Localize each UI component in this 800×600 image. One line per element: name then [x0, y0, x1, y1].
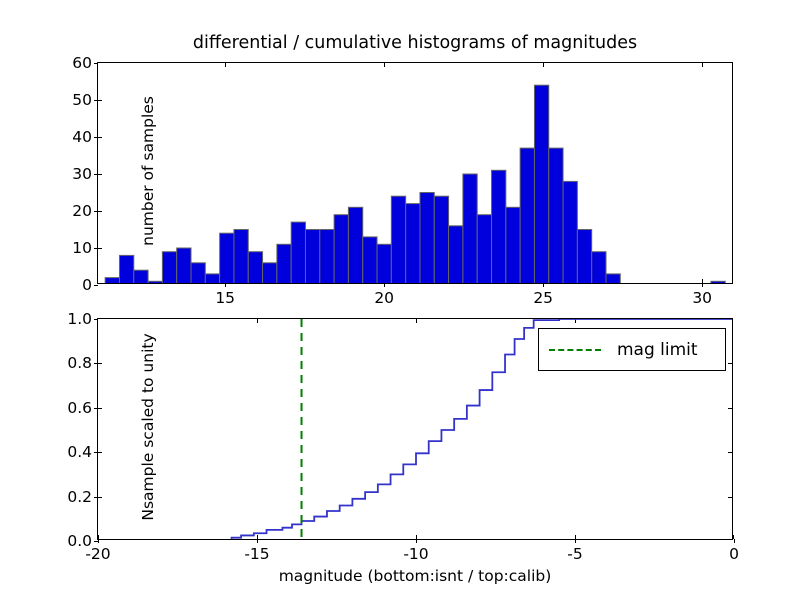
histogram-bar	[492, 170, 506, 283]
histogram-bar	[534, 85, 548, 283]
top-histogram-axes: number of samples 0 10 20 30 40 50 60 15…	[97, 62, 733, 284]
bottom-x-axis-label: magnitude (bottom:isnt / top:calib)	[97, 567, 733, 585]
histogram-bar	[477, 215, 491, 283]
top-y-ticklabel: 40	[72, 128, 92, 146]
bottom-x-tick	[416, 539, 417, 543]
bottom-x-ticklabel: -20	[85, 545, 110, 563]
bottom-x-ticklabel: -15	[244, 545, 269, 563]
histogram-bar	[291, 222, 305, 283]
histogram-bar	[162, 252, 176, 283]
top-x-tick	[702, 283, 703, 287]
top-y-ticklabel: 10	[72, 239, 92, 257]
top-y-ticklabel: 30	[72, 165, 92, 183]
histogram-bar	[277, 244, 291, 283]
histogram-bar	[119, 255, 133, 283]
bottom-y-ticklabel: 0.8	[67, 354, 92, 372]
top-y-ticklabel: 60	[72, 54, 92, 72]
histogram-bar	[248, 252, 262, 283]
histogram-bar	[377, 244, 391, 283]
histogram-bar	[520, 148, 534, 283]
bottom-y-ticklabel: 0.6	[67, 399, 92, 417]
histogram-bar	[711, 281, 725, 283]
histogram-bar	[592, 252, 606, 283]
histogram-bar	[606, 274, 620, 283]
histogram-bar	[320, 230, 334, 284]
histogram-bar	[348, 207, 362, 283]
top-y-ticklabel: 0	[82, 276, 92, 294]
bottom-x-tick-inner	[733, 535, 734, 539]
histogram-bar	[191, 263, 205, 283]
bottom-x-tick	[98, 539, 99, 543]
top-x-ticklabel: 15	[215, 289, 235, 307]
histogram-bar	[105, 278, 119, 283]
cumulative-axes: Nsample scaled to unity 0.0 0.2 0.4 0.6 …	[97, 318, 733, 540]
bottom-x-ticklabel: 0	[729, 545, 739, 563]
histogram-bar	[577, 230, 591, 284]
top-x-tick	[225, 283, 226, 287]
top-y-tick	[94, 285, 98, 286]
bottom-x-ticklabel: -10	[403, 545, 428, 563]
top-x-tick	[543, 283, 544, 287]
top-x-ticklabel: 25	[533, 289, 553, 307]
top-plot-area	[98, 63, 732, 283]
histogram-bar	[263, 263, 277, 283]
histogram-bar	[148, 281, 162, 283]
bottom-y-ticklabel: 1.0	[67, 310, 92, 328]
histogram-bar	[177, 248, 191, 283]
top-x-tick	[384, 283, 385, 287]
top-y-ticklabel: 50	[72, 91, 92, 109]
bottom-x-tick	[734, 539, 735, 543]
bottom-x-tick	[575, 539, 576, 543]
bottom-y-ticklabel: 0.4	[67, 443, 92, 461]
histogram-bar	[463, 174, 477, 283]
histogram-bar	[506, 207, 520, 283]
histogram-bar	[563, 181, 577, 283]
top-x-ticklabel: 20	[374, 289, 394, 307]
bottom-x-ticklabel: -5	[567, 545, 582, 563]
histogram-bar	[434, 196, 448, 283]
histogram-bar	[234, 230, 248, 284]
histogram-bar	[420, 193, 434, 284]
histogram-bar	[305, 230, 319, 284]
histogram-bar	[449, 226, 463, 283]
bottom-y-ticklabel: 0.2	[67, 488, 92, 506]
histogram-bar	[406, 204, 420, 283]
histogram-bar	[391, 196, 405, 283]
histogram-bar	[549, 148, 563, 283]
top-x-ticklabel: 30	[692, 289, 712, 307]
mag-limit-line-icon	[549, 349, 601, 351]
figure-canvas: differential / cumulative histograms of …	[0, 0, 800, 600]
legend-box[interactable]: mag limit	[538, 328, 726, 371]
histogram-bar	[334, 215, 348, 283]
page-title: differential / cumulative histograms of …	[97, 33, 733, 53]
histogram-bar	[134, 270, 148, 283]
histogram-bar	[220, 233, 234, 283]
histogram-bar	[205, 274, 219, 283]
top-y-ticklabel: 20	[72, 202, 92, 220]
histogram-bar	[363, 237, 377, 283]
histogram-bars	[98, 63, 732, 283]
bottom-x-tick	[257, 539, 258, 543]
legend-item-label: mag limit	[617, 340, 698, 360]
